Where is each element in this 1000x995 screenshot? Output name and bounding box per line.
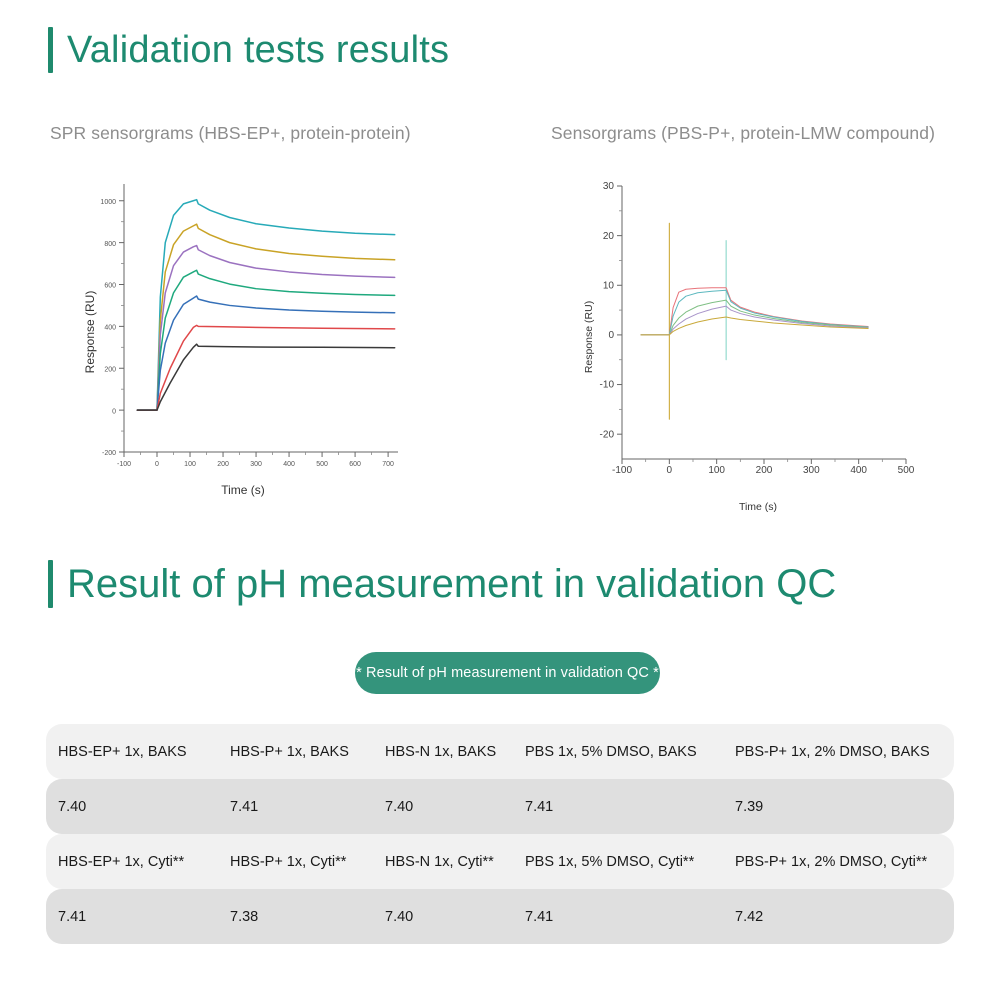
- table-header-cell: PBS-P+ 1x, 2% DMSO, Cyti**: [723, 834, 954, 889]
- svg-text:400: 400: [850, 465, 867, 476]
- section-heading-validation-tests: Validation tests results: [48, 27, 449, 73]
- svg-text:0: 0: [155, 461, 159, 468]
- chart-curves-left: [137, 200, 395, 410]
- table-value-cell: 7.40: [373, 889, 513, 944]
- table-header-cell: PBS-P+ 1x, 2% DMSO, BAKS: [723, 724, 954, 779]
- svg-text:0: 0: [112, 408, 116, 415]
- svg-text:200: 200: [217, 461, 229, 468]
- table-value-cell: 7.41: [513, 779, 723, 834]
- status-badge-ph-result: * Result of pH measurement in validation…: [355, 652, 660, 694]
- table-value-cell: 7.40: [373, 779, 513, 834]
- section-title-ph: Result of pH measurement in validation Q…: [67, 560, 836, 608]
- svg-text:500: 500: [316, 461, 328, 468]
- svg-text:700: 700: [382, 461, 394, 468]
- svg-text:1000: 1000: [100, 199, 116, 206]
- table-header-cell: PBS 1x, 5% DMSO, BAKS: [513, 724, 723, 779]
- svg-text:800: 800: [104, 241, 116, 248]
- svg-text:300: 300: [803, 465, 820, 476]
- chart-axes-left: -20002004006008001000-100010020030040050…: [100, 184, 398, 468]
- svg-text:-100: -100: [117, 461, 131, 468]
- accent-bar-icon: [48, 27, 53, 73]
- table-row: HBS-EP+ 1x, Cyti**HBS-P+ 1x, Cyti**HBS-N…: [46, 834, 954, 889]
- chart-caption-left: SPR sensorgrams (HBS-EP+, protein-protei…: [50, 123, 411, 144]
- section-heading-ph-measurement: Result of pH measurement in validation Q…: [48, 560, 836, 608]
- svg-text:400: 400: [283, 461, 295, 468]
- svg-text:600: 600: [104, 283, 116, 290]
- svg-text:300: 300: [250, 461, 262, 468]
- table-header-cell: HBS-N 1x, Cyti**: [373, 834, 513, 889]
- svg-text:500: 500: [898, 465, 915, 476]
- table-value-cell: 7.42: [723, 889, 954, 944]
- table-header-cell: HBS-P+ 1x, BAKS: [218, 724, 373, 779]
- svg-text:0: 0: [667, 465, 673, 476]
- svg-text:20: 20: [603, 231, 615, 242]
- svg-text:0: 0: [608, 330, 614, 341]
- table-value-cell: 7.41: [513, 889, 723, 944]
- table-value-cell: 7.38: [218, 889, 373, 944]
- svg-text:200: 200: [104, 366, 116, 373]
- chart-spr-pbs-p: -20-100102030-1000100200300400500 Time (…: [578, 172, 918, 517]
- table-value-cell: 7.40: [46, 779, 218, 834]
- chart-curves-right: [641, 223, 868, 419]
- table-header-cell: HBS-P+ 1x, Cyti**: [218, 834, 373, 889]
- chart-series-curve-6-red: [137, 325, 395, 410]
- chart-series-curve-7-black: [137, 344, 395, 410]
- chart-series-curve-4-green: [137, 270, 395, 410]
- svg-text:10: 10: [603, 280, 615, 291]
- chart-series-curve-1-teal: [137, 200, 395, 410]
- table-header-cell: HBS-EP+ 1x, BAKS: [46, 724, 218, 779]
- chart-spr-hbs-ep: -20002004006008001000-100010020030040050…: [78, 172, 408, 502]
- y-axis-title-right: Response (RU): [583, 301, 595, 373]
- status-badge-label: * Result of pH measurement in validation…: [356, 665, 659, 681]
- chart-series-curve-2-teal: [641, 290, 868, 335]
- chart-caption-right: Sensorgrams (PBS-P+, protein-LMW compoun…: [551, 123, 935, 144]
- ph-measurement-table: HBS-EP+ 1x, BAKSHBS-P+ 1x, BAKSHBS-N 1x,…: [46, 724, 954, 944]
- table-row: HBS-EP+ 1x, BAKSHBS-P+ 1x, BAKSHBS-N 1x,…: [46, 724, 954, 779]
- table-header-cell: HBS-N 1x, BAKS: [373, 724, 513, 779]
- table-value-cell: 7.41: [46, 889, 218, 944]
- table-row: 7.407.417.407.417.39: [46, 779, 954, 834]
- table-header-cell: PBS 1x, 5% DMSO, Cyti**: [513, 834, 723, 889]
- svg-text:-200: -200: [102, 450, 116, 457]
- chart-svg-right: -20-100102030-1000100200300400500 Time (…: [578, 172, 918, 517]
- table-row: 7.417.387.407.417.42: [46, 889, 954, 944]
- x-axis-title-left: Time (s): [221, 483, 265, 497]
- accent-bar-icon: [48, 560, 53, 608]
- svg-text:-20: -20: [600, 429, 615, 440]
- table-value-cell: 7.41: [218, 779, 373, 834]
- table-header-cell: HBS-EP+ 1x, Cyti**: [46, 834, 218, 889]
- svg-text:100: 100: [708, 465, 725, 476]
- chart-svg-left: -20002004006008001000-100010020030040050…: [78, 172, 408, 502]
- svg-text:30: 30: [603, 181, 615, 192]
- svg-text:600: 600: [349, 461, 361, 468]
- svg-text:-10: -10: [600, 380, 615, 391]
- svg-text:-100: -100: [612, 465, 632, 476]
- y-axis-title-left: Response (RU): [83, 291, 97, 374]
- x-axis-title-right: Time (s): [739, 501, 777, 513]
- svg-text:200: 200: [756, 465, 773, 476]
- svg-text:400: 400: [104, 325, 116, 332]
- page-title: Validation tests results: [67, 27, 449, 73]
- table-value-cell: 7.39: [723, 779, 954, 834]
- chart-series-curve-5-blue: [137, 296, 395, 410]
- svg-text:100: 100: [184, 461, 196, 468]
